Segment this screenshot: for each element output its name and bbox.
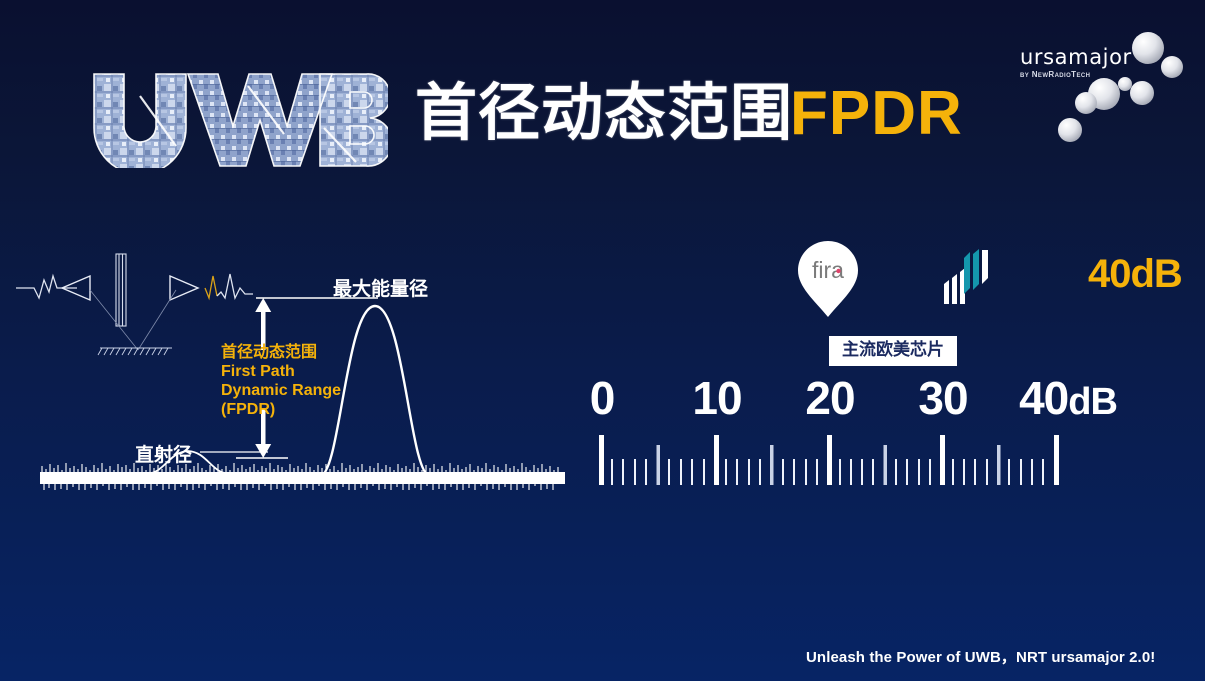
- brand-subtitle: by NewRadioTech: [1020, 71, 1132, 79]
- reflection-rays: [90, 290, 176, 350]
- fpdr-up-arrow: [255, 298, 271, 350]
- scale-label-30: 30: [918, 375, 967, 421]
- nxp-bars-icon: [940, 248, 992, 306]
- page-title-en: FPDR: [790, 83, 963, 145]
- antenna-rx-icon: [170, 276, 198, 300]
- noise-floor: [40, 463, 565, 495]
- page-title-cn: 首径动态范围: [415, 83, 793, 145]
- tx-pulse-icon: [16, 276, 77, 298]
- fpdr-line-4: (FPDR): [221, 401, 341, 420]
- label-direct-path: 直射径: [135, 440, 192, 467]
- fpdr-line-2: First Path: [221, 363, 341, 382]
- brand-logo: ursamajor by NewRadioTech: [1000, 22, 1195, 157]
- wall-icon: [116, 254, 126, 326]
- footer-tagline: Unleash the Power of UWB，NRT ursamajor 2…: [806, 646, 1155, 667]
- scale-label-0: 0: [590, 375, 615, 421]
- fpdr-annotation: 首径动态范围 First Path Dynamic Range (FPDR): [221, 344, 341, 420]
- scale-label-10: 10: [692, 375, 741, 421]
- label-max-energy-path: 最大能量径: [333, 274, 428, 301]
- scale-label-20: 20: [805, 375, 854, 421]
- uwb-wordmark: [88, 68, 388, 168]
- nrt-value-badge: 40dB: [1088, 254, 1182, 294]
- chip-vendor-row: fira: [780, 240, 1010, 325]
- scale-label-40: 40dB: [1019, 375, 1117, 421]
- fpdr-line-3: Dynamic Range: [221, 382, 341, 401]
- fira-pin-icon: fira: [796, 240, 860, 318]
- brand-logo-text: ursamajor by NewRadioTech: [1020, 47, 1132, 79]
- db-scale: 0 10 20 30 40dB: [570, 375, 1090, 495]
- fpdr-line-1: 首径动态范围: [221, 344, 341, 363]
- slide-root: 首径动态范围 FPDR ursamajor by NewRadioTech: [0, 0, 1205, 681]
- scale-ticks: [570, 435, 1090, 495]
- chip-vendor-tag: 主流欧美芯片: [829, 336, 957, 366]
- ursa-major-stars-icon: [1000, 22, 1195, 157]
- ground-reflector-icon: [98, 348, 172, 355]
- rx-pulse-icon: [205, 274, 253, 298]
- brand-name: ursamajor: [1020, 47, 1132, 68]
